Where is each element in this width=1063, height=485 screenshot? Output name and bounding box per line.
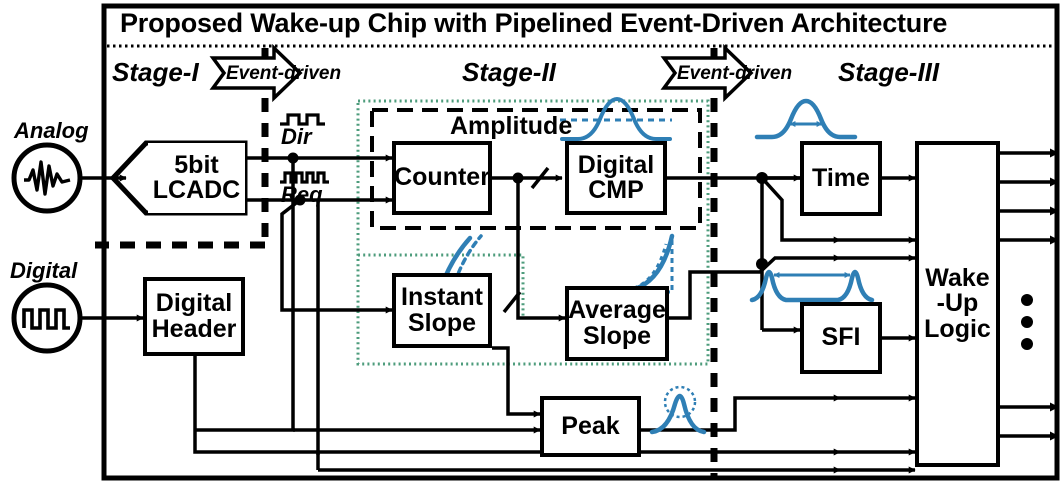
block-counter[interactable]: Counter: [392, 141, 492, 215]
block-digital-header[interactable]: Digital Header: [143, 277, 245, 356]
block-wakeup-logic-line1: Wake: [925, 266, 989, 292]
wire-req-to-instant-slope: [282, 233, 392, 310]
block-time[interactable]: Time: [800, 141, 882, 216]
block-lcadc-line2: LCADC: [153, 178, 241, 204]
page-title: Proposed Wake-up Chip with Pipelined Eve…: [120, 8, 947, 39]
block-digital-cmp[interactable]: Digital CMP: [565, 141, 667, 215]
block-instant-slope-line1: Instant: [401, 285, 483, 311]
block-average-slope-line1: Average: [568, 298, 666, 324]
event-driven-label-1: Event-driven: [226, 63, 341, 85]
stage-label-1: Stage-I: [112, 57, 199, 88]
block-average-slope-line2: Slope: [583, 324, 651, 350]
junction-slope-rail: [756, 258, 768, 270]
block-wakeup-logic[interactable]: Wake -Up Logic: [915, 141, 1000, 467]
signal-label-req: Req: [281, 182, 323, 208]
spike-interval-arrow-icon: [752, 272, 872, 300]
block-digital-cmp-line2: CMP: [588, 178, 644, 204]
stage-label-3: Stage-III: [838, 57, 939, 88]
block-peak[interactable]: Peak: [540, 396, 641, 457]
amplitude-group-label: Amplitude: [450, 112, 572, 141]
event-driven-label-2: Event-driven: [677, 63, 792, 85]
block-lcadc[interactable]: 5bit LCADC: [148, 143, 245, 213]
block-wakeup-logic-line2: -Up: [937, 291, 979, 317]
pulse-wave-sparse-icon: [280, 115, 325, 124]
slope-exponential-icon: [620, 236, 672, 292]
wire-counter-to-average-slope: [518, 178, 565, 318]
gaussian-threshold-icon: [560, 99, 672, 139]
block-digital-header-line2: Header: [152, 317, 237, 343]
pulse-width-arrow-icon: [757, 101, 855, 137]
block-peak-line1: Peak: [561, 414, 619, 440]
digital-source-label: Digital: [10, 258, 77, 284]
block-digital-header-line1: Digital: [156, 291, 232, 317]
block-sfi-line1: SFI: [822, 325, 861, 351]
block-digital-cmp-line1: Digital: [578, 153, 654, 179]
block-instant-slope[interactable]: Instant Slope: [392, 273, 492, 348]
block-counter-line1: Counter: [394, 165, 490, 191]
peak-pulse-icon: [652, 387, 704, 432]
block-instant-slope-line2: Slope: [408, 311, 476, 337]
output-ellipsis-dot-3: [1021, 338, 1033, 350]
square-wave-icon: [24, 310, 70, 328]
wire-instant-slope-to-peak: [492, 348, 540, 414]
block-time-line1: Time: [812, 166, 870, 192]
block-diagram-figure: Proposed Wake-up Chip with Pipelined Eve…: [0, 0, 1063, 485]
block-lcadc-line1: 5bit: [174, 153, 218, 179]
block-wakeup-logic-line3: Logic: [924, 317, 991, 343]
signal-label-dir: Dir: [281, 124, 312, 150]
output-ellipsis-dot-2: [1021, 316, 1033, 328]
pulse-wave-dense-icon: [280, 173, 329, 182]
wire-header-rail: [195, 430, 318, 452]
block-average-slope[interactable]: Average Slope: [565, 286, 669, 361]
output-ellipsis-dot-1: [1021, 294, 1033, 306]
analog-source-label: Analog: [14, 118, 89, 144]
stage-label-2: Stage-II: [462, 57, 556, 88]
block-sfi[interactable]: SFI: [800, 302, 882, 374]
